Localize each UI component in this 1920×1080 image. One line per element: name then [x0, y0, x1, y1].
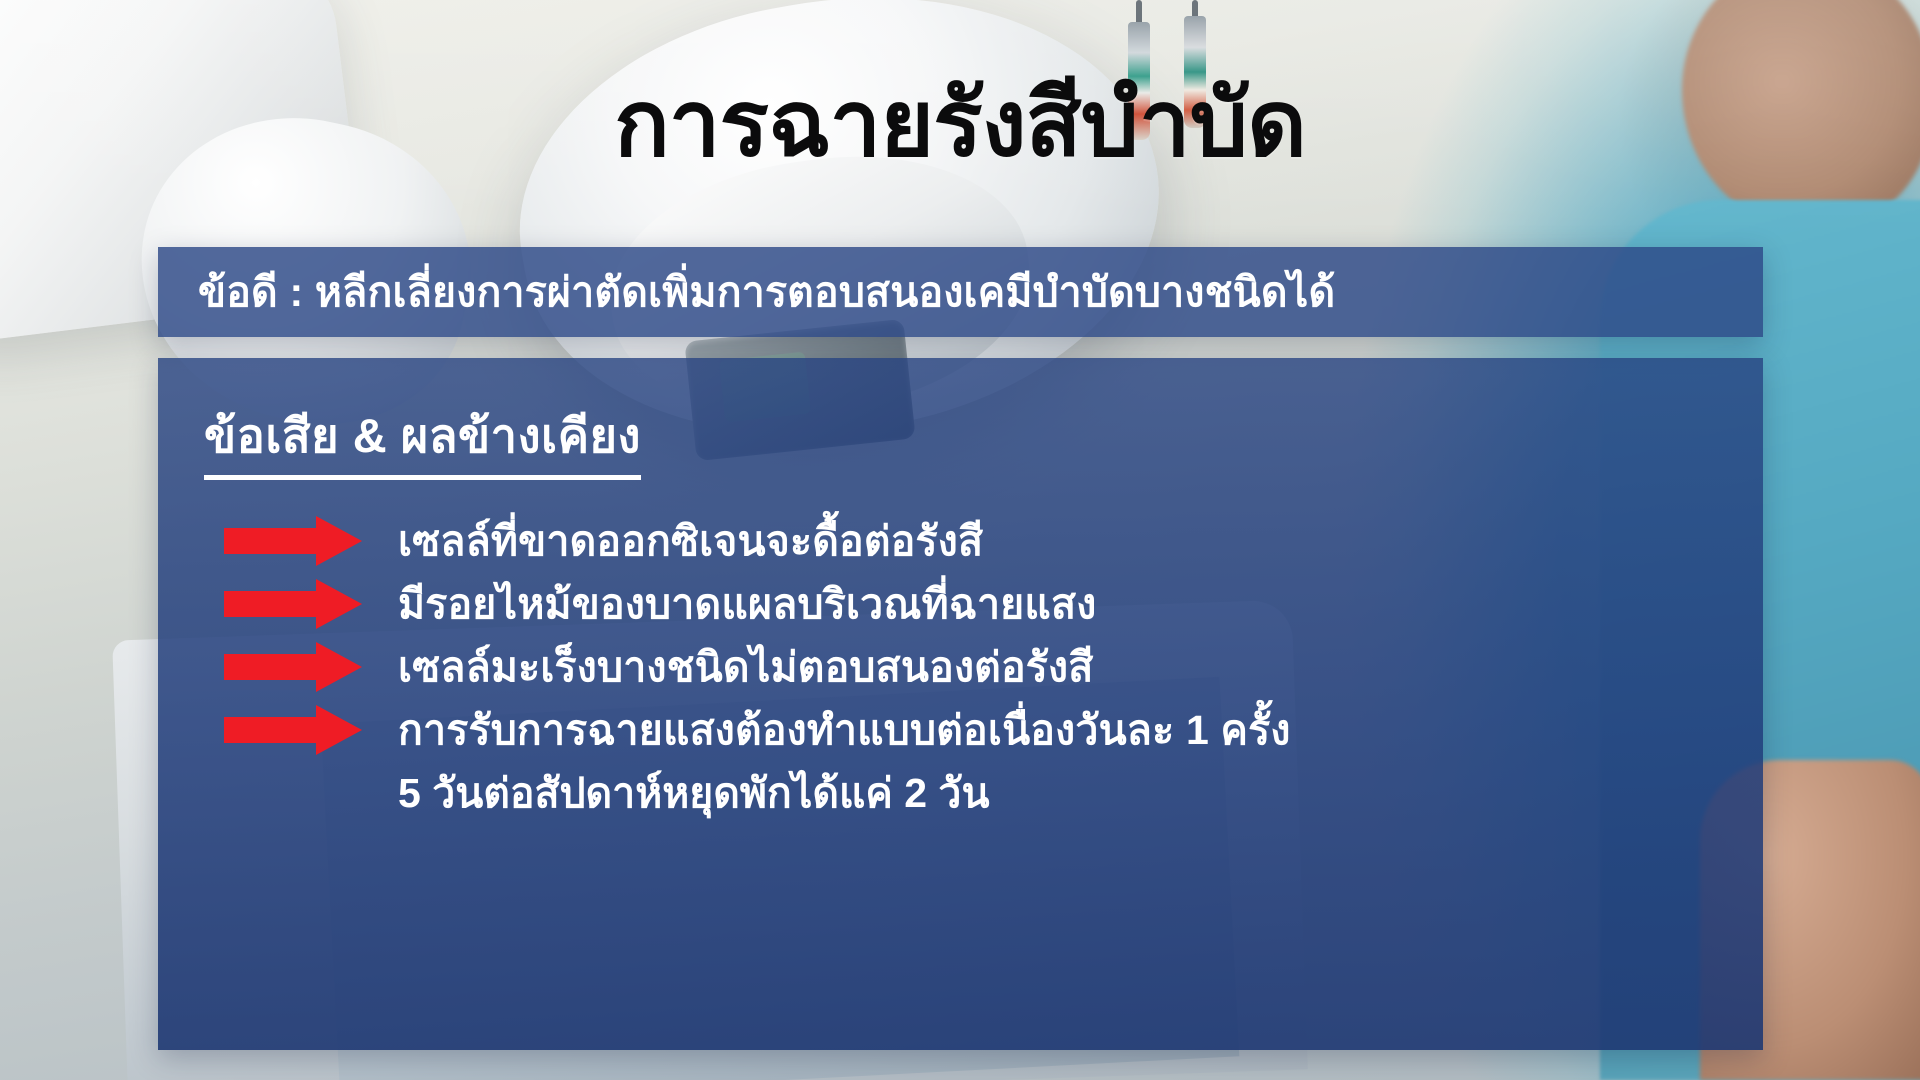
list-item: เซลล์มะเร็งบางชนิดไม่ตอบสนองต่อรังสี: [204, 640, 1717, 695]
page-title: การฉายรังสีบำบัด: [0, 78, 1920, 170]
cons-item-continuation-text: 5 วันต่อสัปดาห์หยุดพักได้แค่ 2 วัน: [398, 766, 1717, 821]
pros-panel: ข้อดี : หลีกเลี่ยงการผ่าตัดเพิ่มการตอบสน…: [158, 247, 1763, 337]
list-item: เซลล์ที่ขาดออกซิเจนจะดื้อต่อรังสี: [204, 514, 1717, 569]
arrow-right-icon: [224, 705, 372, 755]
arrow-right-icon: [224, 642, 372, 692]
pros-label: ข้อดี : หลีกเลี่ยงการผ่าตัดเพิ่มการตอบสน…: [158, 260, 1335, 325]
cons-panel: ข้อเสีย & ผลข้างเคียง เซลล์ที่ขาดออกซิเจ…: [158, 358, 1763, 1050]
list-item: มีรอยไหม้ของบาดแผลบริเวณที่ฉายแสง: [204, 577, 1717, 632]
cons-item-text: เซลล์มะเร็งบางชนิดไม่ตอบสนองต่อรังสี: [398, 640, 1093, 695]
arrow-right-icon: [224, 516, 372, 566]
cons-item-text: เซลล์ที่ขาดออกซิเจนจะดื้อต่อรังสี: [398, 514, 983, 569]
list-item-continuation: 5 วันต่อสัปดาห์หยุดพักได้แค่ 2 วัน: [204, 766, 1717, 821]
arrow-right-icon: [224, 579, 372, 629]
cons-list: เซลล์ที่ขาดออกซิเจนจะดื้อต่อรังสี มีรอยไ…: [204, 514, 1717, 821]
cons-item-text: การรับการฉายแสงต้องทำแบบต่อเนื่องวันละ 1…: [398, 703, 1291, 758]
list-item: การรับการฉายแสงต้องทำแบบต่อเนื่องวันละ 1…: [204, 703, 1717, 758]
slide-canvas: การฉายรังสีบำบัด ข้อดี : หลีกเลี่ยงการผ่…: [0, 0, 1920, 1080]
cons-item-text: มีรอยไหม้ของบาดแผลบริเวณที่ฉายแสง: [398, 577, 1096, 632]
cons-heading: ข้อเสีย & ผลข้างเคียง: [204, 398, 641, 480]
